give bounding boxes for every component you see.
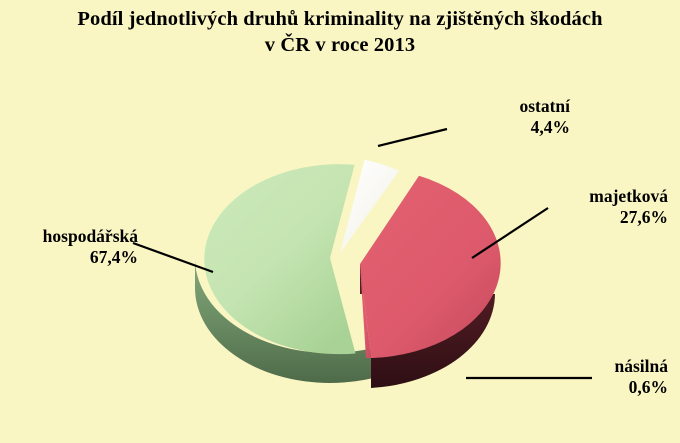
data-label-nasilna-name: násilná [440, 356, 668, 377]
data-label-hospodarska-value: 67,4% [0, 247, 138, 268]
chart-title-line-2: v ČR v roce 2013 [0, 32, 680, 58]
data-label-hospodarska-name: hospodářská [0, 226, 138, 247]
data-label-hospodarska: hospodářská 67,4% [0, 226, 138, 268]
data-label-ostatni-name: ostatní [400, 96, 570, 117]
chart-title: Podíl jednotlivých druhů kriminality na … [0, 6, 680, 58]
data-label-nasilna-value: 0,6% [440, 377, 668, 398]
data-label-majetkova-value: 27,6% [398, 207, 668, 228]
data-label-ostatni: ostatní 4,4% [400, 96, 570, 138]
data-label-majetkova-name: majetková [398, 186, 668, 207]
data-label-majetkova: majetková 27,6% [398, 186, 668, 228]
data-label-ostatni-value: 4,4% [400, 117, 570, 138]
data-label-nasilna: násilná 0,6% [440, 356, 668, 398]
chart-title-line-1: Podíl jednotlivých druhů kriminality na … [0, 6, 680, 32]
chart-canvas: Podíl jednotlivých druhů kriminality na … [0, 0, 680, 443]
